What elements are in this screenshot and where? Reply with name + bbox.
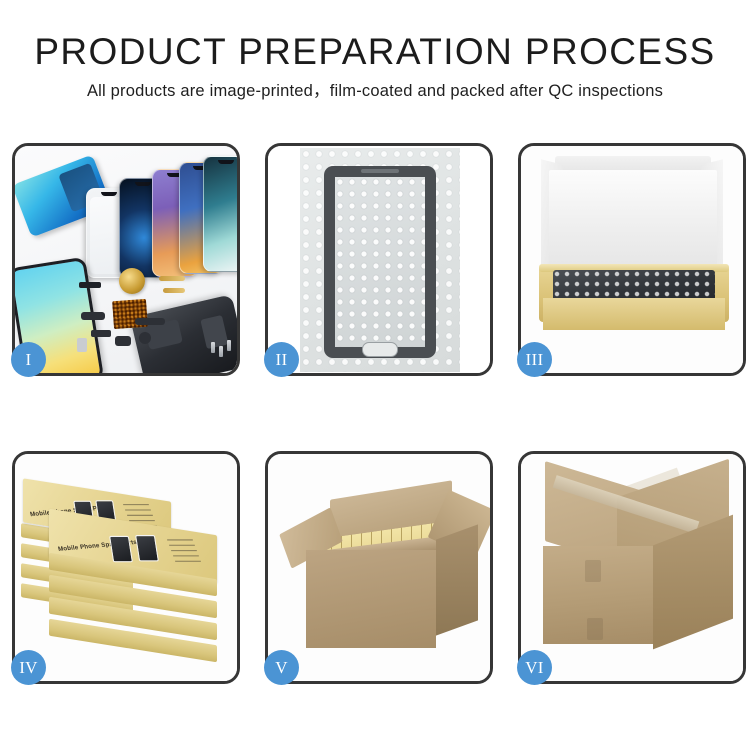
earpiece-slot (361, 169, 399, 173)
process-steps-grid: I II III (12, 143, 738, 684)
screw-icon (219, 346, 223, 357)
step-badge-5: V (264, 650, 299, 685)
step-image-1 (15, 146, 237, 373)
step-badge-1: I (11, 342, 46, 377)
step-panel-3[interactable]: III (518, 143, 746, 376)
step-image-2 (268, 146, 490, 373)
step-badge-2: II (264, 342, 299, 377)
spare-part-chip (79, 282, 101, 288)
step-panel-6[interactable]: VI (518, 451, 746, 684)
page-title: PRODUCT PREPARATION PROCESS (0, 30, 750, 74)
phone-front-teal (203, 156, 237, 272)
step-panel-2[interactable]: II (265, 143, 493, 376)
step-image-6 (521, 454, 743, 681)
step-panel-5[interactable]: V (265, 451, 493, 684)
spare-part-flex-cable (159, 276, 185, 281)
carton-front-panel (306, 550, 436, 648)
page-subtitle: All products are image-printed，film-coat… (0, 80, 750, 102)
spare-part-module (91, 330, 111, 337)
step-image-5 (268, 454, 490, 681)
step-image-4: Mobile Phone Spare Parts Mobile Phone Sp… (15, 454, 237, 681)
carton-notch (587, 618, 603, 640)
step-badge-4: IV (11, 650, 46, 685)
speaker-component (119, 268, 145, 294)
spare-part-button (139, 332, 151, 344)
kraft-box-front (543, 298, 725, 330)
carton-front-face (543, 546, 655, 644)
box-print-phone-image (109, 536, 133, 562)
screw-icon (227, 340, 231, 351)
box-lid-open (549, 170, 717, 278)
spare-part-connector (81, 312, 105, 320)
home-button-slot (362, 342, 398, 357)
step-panel-4[interactable]: Mobile Phone Spare Parts Mobile Phone Sp… (12, 451, 240, 684)
spare-part-flex-cable (163, 288, 185, 293)
carton-side-panel (436, 524, 478, 635)
step-panel-1[interactable]: I (12, 143, 240, 376)
step-badge-3: III (517, 342, 552, 377)
phone-screen-digitizer (324, 166, 436, 358)
step-image-3 (521, 146, 743, 373)
box-print-phone-image (135, 535, 159, 561)
screw-icon (211, 342, 215, 353)
spare-part-cable (135, 318, 165, 325)
step-badge-6: VI (517, 650, 552, 685)
box-stack: Mobile Phone Spare Parts Mobile Phone Sp… (19, 470, 237, 670)
spare-part-battery (77, 338, 87, 352)
page-header: PRODUCT PREPARATION PROCESS All products… (0, 0, 750, 102)
carton-notch (585, 560, 601, 582)
spare-part-camera (115, 336, 131, 346)
bubble-wrap-sheet (300, 148, 460, 372)
